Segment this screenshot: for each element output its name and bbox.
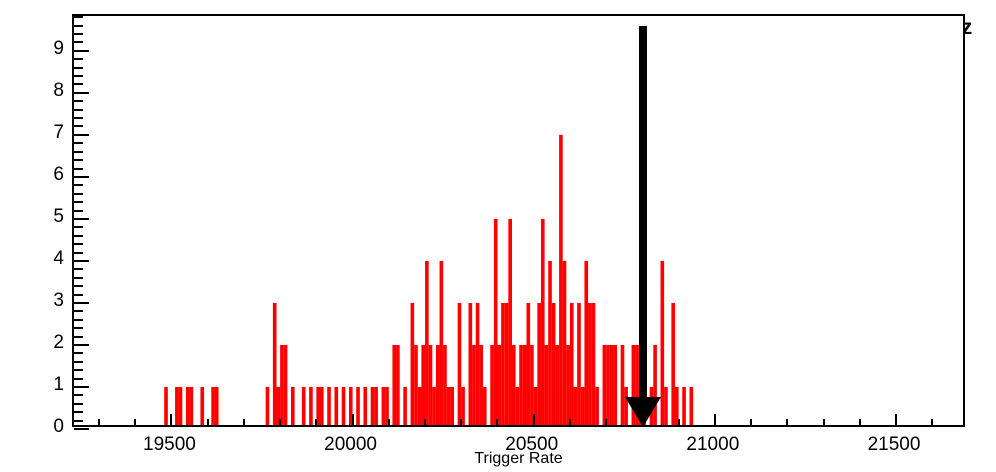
y-axis-labels: 0123456789: [0, 0, 64, 472]
x-axis-tick-minor: [823, 419, 825, 425]
histogram-bar: [396, 345, 400, 425]
x-axis-tick-minor: [460, 419, 462, 425]
y-axis-tick-minor: [74, 243, 83, 245]
y-axis-tick-major: [74, 428, 89, 430]
y-axis-tick-minor: [74, 117, 83, 119]
y-axis-tick-minor: [74, 41, 83, 43]
x-axis-tick-minor: [569, 419, 571, 425]
histogram-bar: [490, 345, 494, 425]
x-axis-tick-major: [170, 414, 172, 425]
x-axis-tick-label: 21000: [686, 434, 739, 456]
y-axis-tick-minor: [74, 67, 83, 69]
x-axis-tick-minor: [207, 419, 209, 425]
histogram-bar: [613, 345, 617, 425]
histogram-bar: [440, 261, 444, 425]
x-axis-tick-minor: [859, 419, 861, 425]
histogram-bar: [497, 345, 501, 425]
y-axis-tick-major: [74, 302, 89, 304]
x-axis-tick-minor: [424, 419, 426, 425]
histogram-bar: [447, 387, 451, 425]
y-axis-tick-minor: [74, 403, 83, 405]
y-axis-tick-label: 7: [6, 122, 64, 144]
y-axis-tick-major: [74, 260, 89, 262]
y-axis-tick-label: 4: [6, 248, 64, 270]
histogram-bars: [164, 135, 693, 425]
y-axis-tick-minor: [74, 420, 83, 422]
histogram-bar: [392, 345, 396, 425]
y-axis-tick-minor: [74, 235, 83, 237]
histogram-bar: [671, 303, 675, 425]
histogram-bar: [382, 387, 386, 425]
x-axis-tick-minor: [388, 419, 390, 425]
y-axis-tick-minor: [74, 201, 83, 203]
y-axis-tick-label: 9: [6, 38, 64, 60]
histogram-bar: [327, 387, 331, 425]
histogram-bar: [429, 345, 433, 425]
histogram-bar: [584, 261, 588, 425]
histogram-bar: [581, 387, 585, 425]
y-axis-tick-minor: [74, 226, 83, 228]
histogram-bar: [483, 387, 487, 425]
x-axis-tick-major: [352, 414, 354, 425]
y-axis-tick-minor: [74, 33, 83, 35]
y-axis-tick-minor: [74, 210, 83, 212]
histogram-bar: [545, 345, 549, 425]
y-axis-tick-minor: [74, 268, 83, 270]
x-axis-tick-minor: [496, 419, 498, 425]
y-axis-tick-label: 1: [6, 374, 64, 396]
y-axis-tick-label: 2: [6, 332, 64, 354]
y-axis-tick-minor: [74, 16, 83, 18]
histogram-bar: [508, 219, 512, 425]
y-axis-tick-minor: [74, 336, 83, 338]
y-axis-tick-minor: [74, 142, 83, 144]
y-axis-tick-major: [74, 344, 89, 346]
histogram-bar: [443, 345, 447, 425]
x-axis-tick-minor: [134, 419, 136, 425]
x-axis-tick-minor: [605, 419, 607, 425]
y-axis-tick-major: [74, 218, 89, 220]
histogram-bar: [371, 387, 375, 425]
histogram-bar: [537, 303, 541, 425]
y-axis-tick-minor: [74, 378, 83, 380]
histogram-bar: [479, 345, 483, 425]
y-axis-tick-label: 3: [6, 290, 64, 312]
current-rate-marker: [639, 26, 647, 399]
y-axis-tick-minor: [74, 294, 83, 296]
histogram-bar: [689, 387, 693, 425]
histogram-bar: [555, 345, 559, 425]
histogram-bar: [414, 345, 418, 425]
histogram-bar: [505, 303, 509, 425]
histogram-bar: [200, 387, 204, 425]
histogram-bar: [302, 387, 306, 425]
histogram-bar: [164, 387, 168, 425]
x-axis-tick-label: 20000: [324, 434, 377, 456]
histogram-bar: [519, 345, 523, 425]
histogram-bar: [469, 303, 473, 425]
histogram-bar: [606, 345, 610, 425]
x-axis-tick-major: [714, 414, 716, 425]
y-axis-tick-label: 6: [6, 164, 64, 186]
histogram-bar: [356, 387, 360, 425]
y-axis-tick-minor: [74, 100, 83, 102]
histogram-bar: [215, 387, 219, 425]
root-canvas: Current: 20807.66 Hz 0123456789 19500200…: [0, 0, 996, 472]
histogram-bar: [403, 387, 407, 425]
histogram-bar: [570, 303, 574, 425]
x-axis-tick-minor: [678, 419, 680, 425]
histogram-bar: [291, 387, 295, 425]
y-axis-tick-major: [74, 176, 89, 178]
y-axis-tick-major: [74, 134, 89, 136]
y-axis-tick-major: [74, 386, 89, 388]
histogram-bar: [541, 219, 545, 425]
y-axis-tick-label: 8: [6, 80, 64, 102]
histogram-bar: [682, 387, 686, 425]
histogram-bar: [595, 387, 599, 425]
histogram-bar: [273, 303, 277, 425]
x-axis-tick-major: [533, 414, 535, 425]
histogram-bar: [450, 387, 454, 425]
y-axis-tick-minor: [74, 151, 83, 153]
histogram-bar: [523, 345, 527, 425]
histogram-bar: [621, 345, 625, 425]
histogram-bar: [334, 387, 338, 425]
y-axis-tick-minor: [74, 285, 83, 287]
y-axis-tick-minor: [74, 319, 83, 321]
histogram-bar: [436, 345, 440, 425]
x-axis-tick-label: 21500: [868, 434, 921, 456]
y-axis-tick-minor: [74, 159, 83, 161]
histogram-bar: [577, 303, 581, 425]
y-axis-tick-minor: [74, 327, 83, 329]
histogram-svg: [74, 16, 963, 425]
histogram-bar: [512, 345, 516, 425]
y-axis-tick-minor: [74, 125, 83, 127]
x-axis-title: Trigger Rate: [474, 450, 562, 468]
x-axis-tick-major: [895, 414, 897, 425]
histogram-bar: [548, 261, 552, 425]
plot-area: [74, 16, 963, 425]
histogram-bar: [476, 303, 480, 425]
y-axis-tick-minor: [74, 277, 83, 279]
y-axis-tick-minor: [74, 361, 83, 363]
y-axis-tick-minor: [74, 193, 83, 195]
histogram-bar: [516, 387, 520, 425]
histogram-bar: [432, 387, 436, 425]
y-axis-tick-minor: [74, 310, 83, 312]
current-rate-marker-arrowhead: [625, 397, 661, 427]
histogram-bar: [280, 345, 284, 425]
histogram-bar: [374, 387, 378, 425]
y-axis-tick-minor: [74, 252, 83, 254]
histogram-bar: [494, 219, 498, 425]
x-axis-tick-minor: [931, 419, 933, 425]
histogram-bar: [563, 261, 567, 425]
histogram-bar: [526, 303, 530, 425]
histogram-bar: [342, 387, 346, 425]
histogram-bar: [411, 303, 415, 425]
histogram-bar: [472, 345, 476, 425]
y-axis-tick-minor: [74, 168, 83, 170]
histogram-bar: [363, 387, 367, 425]
histogram-bar: [559, 135, 563, 425]
y-axis-tick-minor: [74, 394, 83, 396]
x-axis-tick-minor: [786, 419, 788, 425]
histogram-bar: [320, 387, 324, 425]
histogram-bar: [566, 345, 570, 425]
y-axis-tick-minor: [74, 75, 83, 77]
y-axis-tick-minor: [74, 25, 83, 27]
histogram-bar: [186, 387, 190, 425]
histogram-bar: [588, 303, 592, 425]
x-axis-tick-label: 19500: [143, 434, 196, 456]
histogram-bar: [425, 261, 429, 425]
histogram-bar: [552, 303, 556, 425]
x-axis-tick-minor: [279, 419, 281, 425]
histogram-bar: [501, 303, 505, 425]
x-axis-tick-minor: [98, 419, 100, 425]
y-axis-tick-minor: [74, 109, 83, 111]
y-axis-tick-minor: [74, 184, 83, 186]
histogram-bar: [284, 345, 288, 425]
histogram-bar: [592, 303, 596, 425]
x-axis-tick-minor: [315, 419, 317, 425]
histogram-bar: [309, 387, 313, 425]
y-axis-tick-major: [74, 92, 89, 94]
histogram-bar: [211, 387, 215, 425]
y-axis-tick-minor: [74, 83, 83, 85]
plot-frame: [72, 14, 965, 427]
histogram-bar: [418, 387, 422, 425]
y-axis-tick-minor: [74, 369, 83, 371]
y-axis-tick-minor: [74, 352, 83, 354]
histogram-bar: [574, 387, 578, 425]
histogram-bar: [603, 345, 607, 425]
histogram-bar: [610, 345, 614, 425]
histogram-bar: [421, 345, 425, 425]
histogram-bar: [179, 387, 183, 425]
histogram-bar: [175, 387, 179, 425]
y-axis-tick-major: [74, 50, 89, 52]
y-axis-tick-minor: [74, 411, 83, 413]
y-axis-tick-label: 5: [6, 206, 64, 228]
x-axis-tick-minor: [243, 419, 245, 425]
y-axis-tick-minor: [74, 58, 83, 60]
histogram-bar: [266, 387, 270, 425]
histogram-bar: [530, 345, 534, 425]
histogram-bar: [664, 387, 668, 425]
histogram-bar: [458, 303, 462, 425]
y-axis-tick-label: 0: [6, 416, 64, 438]
x-axis-tick-minor: [750, 419, 752, 425]
histogram-bar: [190, 387, 194, 425]
